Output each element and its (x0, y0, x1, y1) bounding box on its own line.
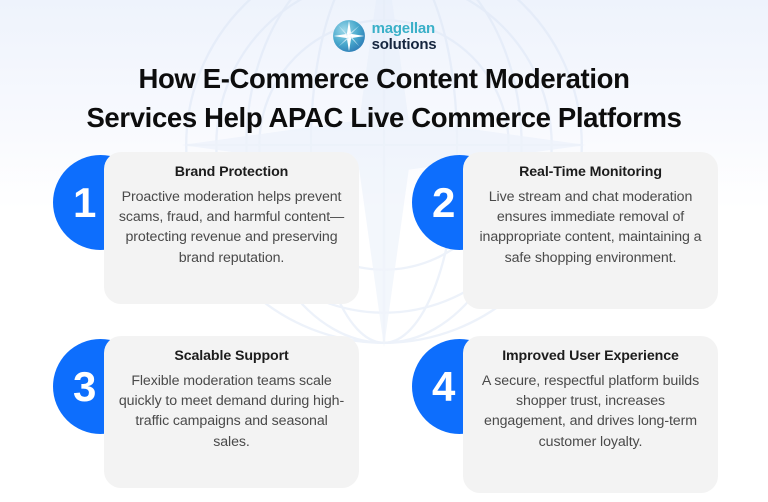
card-panel: Improved User Experience A secure, respe… (463, 336, 718, 493)
card-panel: Real-Time Monitoring Live stream and cha… (463, 152, 718, 309)
page-title: How E-Commerce Content Moderation Servic… (0, 59, 768, 137)
card-heading: Improved User Experience (476, 348, 705, 366)
compass-star-icon (332, 19, 366, 53)
card-number: 1 (73, 182, 95, 224)
card-panel: Brand Protection Proactive moderation he… (104, 152, 359, 304)
card-panel: Scalable Support Flexible moderation tea… (104, 336, 359, 488)
card-heading: Scalable Support (117, 348, 346, 366)
brand-wordmark: magellan solutions (372, 20, 437, 52)
card-number: 3 (73, 366, 95, 408)
benefit-card-3: 3 Scalable Support Flexible moderation t… (53, 336, 359, 494)
card-heading: Brand Protection (117, 164, 346, 182)
card-number: 4 (432, 366, 454, 408)
benefit-card-4: 4 Improved User Experience A secure, res… (412, 336, 718, 494)
brand-name-line1: magellan (372, 21, 437, 36)
benefit-card-grid: 1 Brand Protection Proactive moderation … (0, 152, 768, 338)
brand-name-line2: solutions (372, 37, 437, 52)
card-number: 2 (432, 182, 454, 224)
card-description: Live stream and chat moderation ensures … (476, 187, 705, 268)
page-title-line2: Services Help APAC Live Commerce Platfor… (24, 98, 744, 137)
benefit-card-1: 1 Brand Protection Proactive moderation … (53, 152, 359, 310)
card-description: A secure, respectful platform builds sho… (476, 371, 705, 452)
card-description: Proactive moderation helps prevent scams… (117, 187, 346, 268)
card-heading: Real-Time Monitoring (476, 164, 705, 182)
brand-logo: magellan solutions (0, 19, 768, 53)
page-title-line1: How E-Commerce Content Moderation (24, 59, 744, 98)
benefit-card-2: 2 Real-Time Monitoring Live stream and c… (412, 152, 718, 310)
card-description: Flexible moderation teams scale quickly … (117, 371, 346, 452)
